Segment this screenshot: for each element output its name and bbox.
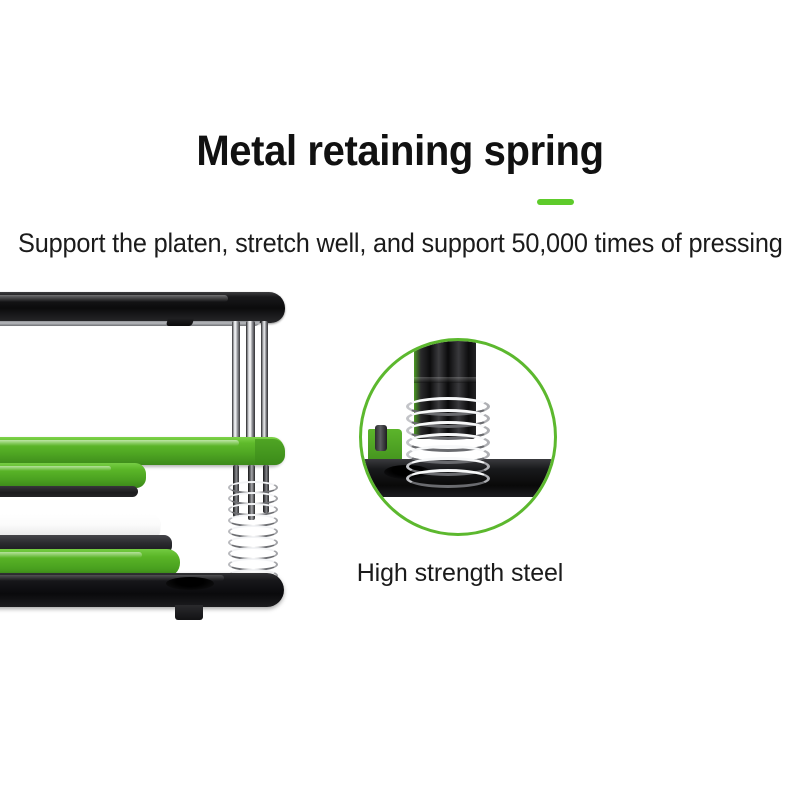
platen-notch: [166, 318, 194, 326]
guide-rod-right: [261, 321, 268, 443]
callout-caption: High strength steel: [300, 557, 620, 589]
upper-plate-underside: [0, 486, 138, 497]
magnified-detail-callout: [359, 338, 557, 536]
lower-plate-highlight: [0, 552, 142, 558]
guide-rod-center: [246, 321, 255, 443]
base-hole: [166, 577, 214, 590]
black-base-plate: [0, 573, 284, 607]
top-black-platen: [0, 292, 285, 323]
arm-end-cap: [255, 439, 285, 465]
arm-highlight: [0, 440, 239, 446]
green-swing-arm: [0, 437, 284, 465]
page-subtitle: Support the platen, stretch well, and su…: [18, 226, 782, 260]
callout-ring-border: [359, 338, 557, 536]
base-foot: [175, 605, 203, 620]
platen-underside: [0, 321, 260, 326]
upper-plate-highlight: [0, 466, 111, 471]
product-photo: [0, 285, 305, 655]
guide-rod-left: [232, 321, 240, 443]
accent-divider: [537, 199, 574, 205]
platen-highlight: [0, 295, 228, 302]
green-upper-plate: [0, 463, 146, 488]
product-feature-banner: Metal retaining spring Support the plate…: [0, 0, 800, 800]
page-title: Metal retaining spring: [28, 126, 772, 176]
